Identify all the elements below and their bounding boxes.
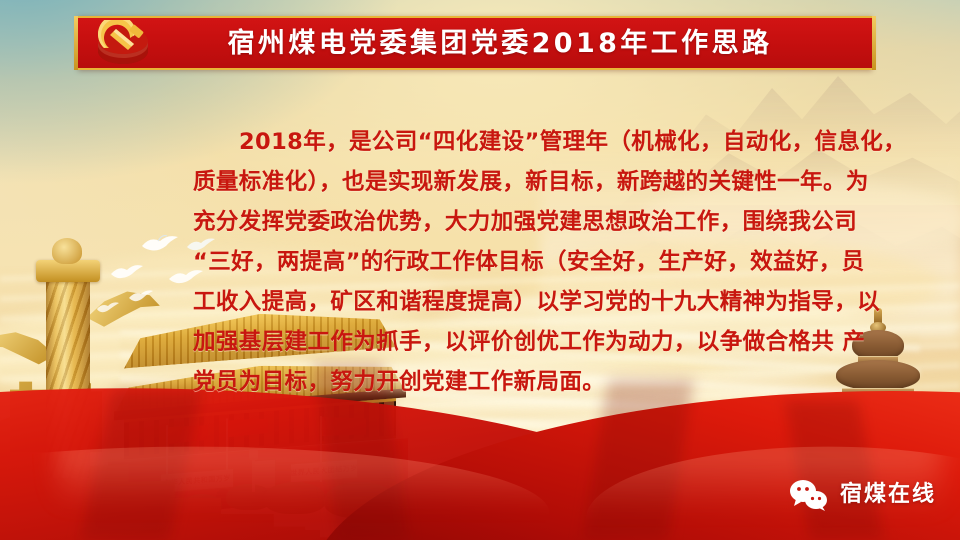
body-paragraph: 2018年，是公司“四化建设”管理年（机械化，自动化，信息化， 质量标准化），也… [193,122,847,402]
huabiao-finial [52,238,82,264]
peace-dove-icon [128,288,154,303]
party-emblem-hammer-sickle-icon [92,20,154,66]
wechat-icon [789,478,829,512]
page-title: 宿州煤电党委集团党委2018年工作思路 [154,30,872,57]
body-line: “三好，两提高”的行政工作体目标（安全好，生产好，效益好，员 [193,242,847,282]
body-line: 党员为目标，努力开创党建工作新局面。 [193,362,847,402]
body-line: 工收入提高，矿区和谐程度提高）以学习党的十九大精神为指导，以 [193,282,847,322]
watermark-label: 宿煤在线 [840,484,936,506]
body-line: 2018年，是公司“四化建设”管理年（机械化，自动化，信息化， [193,122,847,162]
body-line: 质量标准化），也是实现新发展，新目标，新跨越的关键性一年。为 [193,162,847,202]
watermark: 宿煤在线 [789,478,936,512]
peace-dove-icon [96,300,120,314]
peace-dove-icon [110,262,144,281]
title-banner: 宿州煤电党委集团党委2018年工作思路 [78,16,872,70]
body-line: 充分发挥党委政治优势，大力加强党建思想政治工作，围绕我公司 [193,202,847,242]
peace-dove-icon [140,232,180,254]
poster-canvas: 中华人民共和国万岁 世界人民大团结万岁 [0,0,960,540]
body-line: 加强基层建工作为抓手，以评价创优工作为动力，以争做合格共 产 [193,322,847,362]
